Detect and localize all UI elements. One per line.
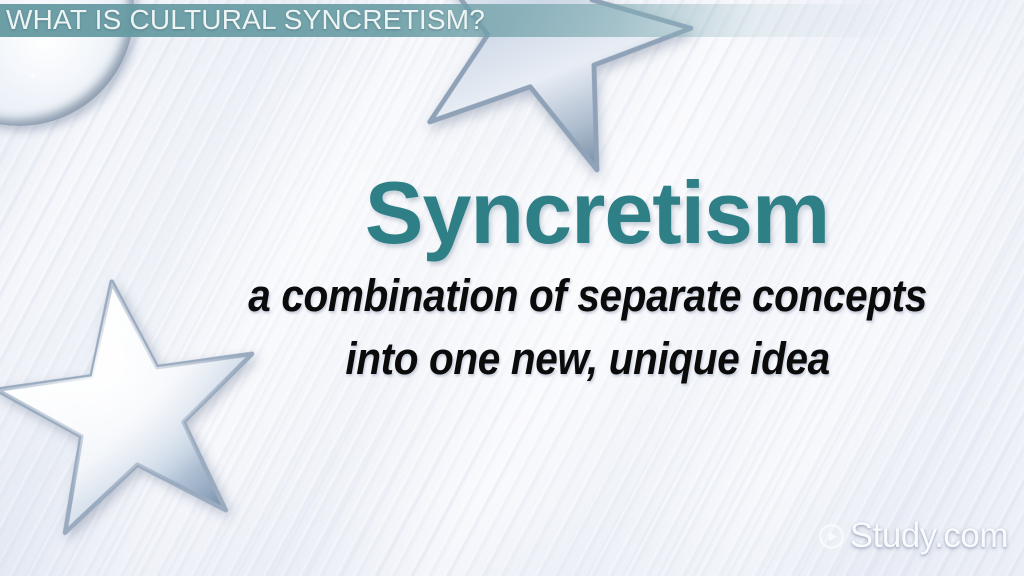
definition-line-1: a combination of separate concepts — [51, 270, 973, 322]
slide-canvas: WHAT IS CULTURAL SYNCRETISM? Syncretism … — [0, 0, 1024, 576]
play-circle-icon — [818, 523, 845, 550]
headline-term: Syncretism — [0, 162, 1024, 264]
watermark-brand: Study.com — [850, 516, 1008, 556]
page-title: WHAT IS CULTURAL SYNCRETISM? — [6, 0, 485, 40]
definition-line-2: into one new, unique idea — [51, 333, 973, 385]
watermark: Study.com — [818, 516, 1008, 556]
